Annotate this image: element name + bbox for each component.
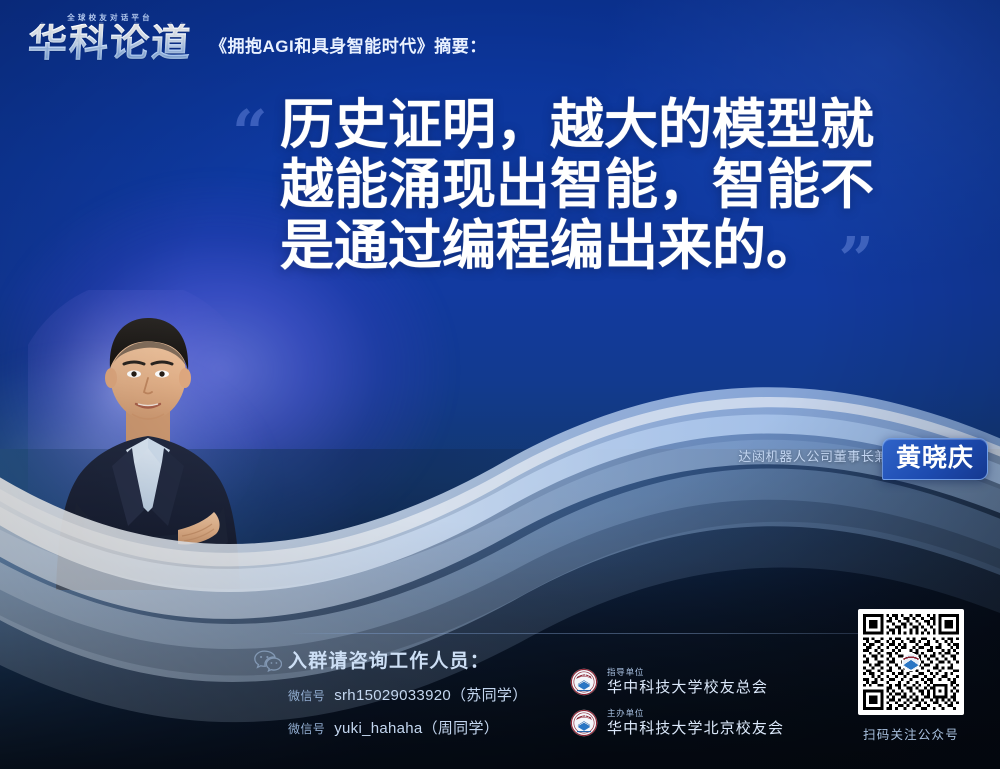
brand-logo[interactable]: 全球校友对话平台 华科论道 [28, 14, 192, 63]
university-seal-icon [570, 709, 598, 737]
qr-section: 扫码关注公众号 [858, 609, 964, 743]
organization-name: 华中科技大学北京校友会 [607, 721, 784, 738]
quote-line: 越能涌现出智能，智能不 [280, 156, 962, 214]
wechat-icon [254, 650, 282, 672]
quote-block: “ 历史证明，越大的模型就 越能涌现出智能，智能不 是通过编程编出来的。 ” [232, 96, 962, 277]
quote-open-mark: “ [232, 102, 268, 164]
organization-list: 指导单位 华中科技大学校友总会 主办单位 [570, 668, 784, 750]
contact-label: 微信号 [288, 687, 325, 704]
poster-canvas: 全球校友对话平台 华科论道 《拥抱AGI和具身智能时代》摘要： “ 历史证明，越… [0, 0, 1000, 769]
organization-item: 主办单位 华中科技大学北京校友会 [570, 709, 784, 737]
speaker-name-badge: 黄晓庆 [882, 438, 988, 480]
qr-code-icon[interactable] [858, 609, 964, 715]
qr-caption: 扫码关注公众号 [858, 724, 964, 743]
speaker-attribution: 达闼机器人公司董事长兼CEO 黄晓庆 [738, 446, 918, 465]
organization-item: 指导单位 华中科技大学校友总会 [570, 668, 784, 696]
university-seal-icon [570, 668, 598, 696]
contact-label: 微信号 [288, 720, 325, 737]
contact-value[interactable]: yuki_hahaha（周同学） [334, 717, 499, 738]
brand-logo-text: 华科论道 [27, 24, 193, 63]
poster-header: 全球校友对话平台 华科论道 《拥抱AGI和具身智能时代》摘要： [28, 14, 487, 63]
contact-value[interactable]: srh15029033920（苏同学） [334, 684, 527, 705]
footer-section: 入群请咨询工作人员： 微信号 srh15029033920（苏同学） 微信号 y… [252, 646, 952, 750]
quote-line: 历史证明，越大的模型就 [280, 96, 962, 154]
poster-subtitle: 《拥抱AGI和具身智能时代》摘要： [210, 32, 487, 63]
organization-kind: 主办单位 [607, 709, 784, 718]
organization-name: 华中科技大学校友总会 [607, 680, 768, 697]
footer-divider [288, 633, 934, 634]
organization-text: 主办单位 华中科技大学北京校友会 [607, 709, 784, 737]
organization-text: 指导单位 华中科技大学校友总会 [607, 668, 768, 696]
quote-close-mark: ” [838, 229, 874, 291]
organization-kind: 指导单位 [607, 668, 768, 677]
